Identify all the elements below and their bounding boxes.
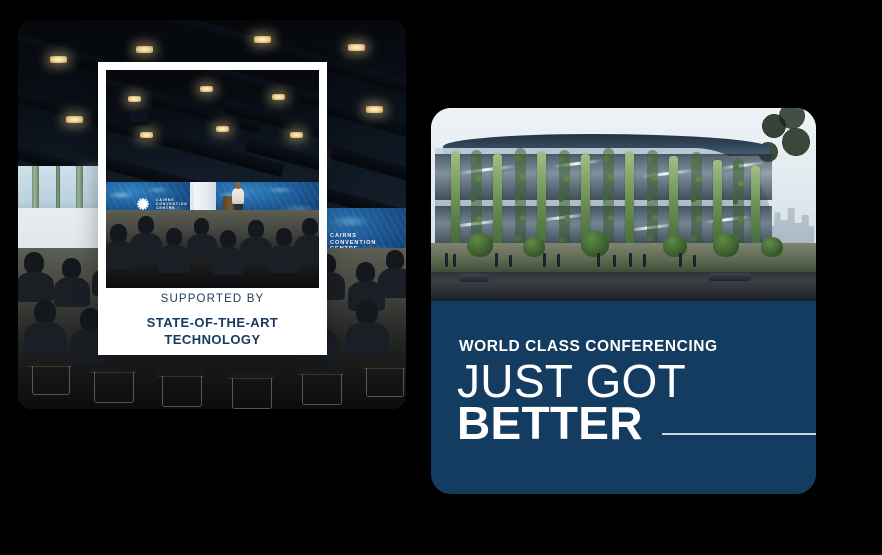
ceiling-light [348,44,365,51]
screen-wordmark-line-2: CONVENTION [330,240,376,246]
convention-centre-render [431,108,816,301]
pedestrian [629,253,632,267]
pedestrian [453,254,456,267]
chair [366,368,404,397]
audience [106,210,319,288]
audience-body [24,322,66,356]
street-tree [581,231,609,257]
eyebrow-text: WORLD CLASS CONFERENCING [459,339,718,355]
street-tree [713,233,739,257]
cairns-convention-centre-logo [136,197,150,211]
screen-wordmark-line-1: CAIRNS [330,233,357,239]
plaza [431,243,816,273]
audience-head [356,300,378,324]
pedestrian [693,255,696,267]
caption-line-1: STATE-OF-THE-ART [106,314,319,331]
caption-line-2: TECHNOLOGY [106,331,319,348]
speaker-figure [232,188,244,204]
audience-body [346,322,389,356]
pedestrian [597,253,600,267]
audience-body [18,272,54,302]
headline-rule [662,433,816,435]
pedestrian [679,253,682,267]
pedestrian [445,253,448,267]
street-tree [467,233,493,257]
street-tree [663,235,687,257]
audience-body [378,268,406,298]
ceiling-light [136,46,153,53]
session-photo: CAIRNS CONVENTION CENTRE [106,70,319,288]
road [431,272,816,301]
chair [94,372,134,403]
pedestrian [557,254,560,267]
speaker-figure [235,182,241,189]
audience-head [62,258,81,279]
chair [162,376,202,407]
pedestrian [643,254,646,267]
chair [302,374,342,405]
headline-line-2: BETTER [457,399,643,448]
pedestrian [543,253,546,267]
chair [232,378,272,409]
pedestrian [509,255,512,267]
supported-by-caption: SUPPORTED BY STATE-OF-THE-ART TECHNOLOGY [106,294,319,348]
headline-block: WORLD CLASS CONFERENCING JUST GOT BETTER [431,301,816,494]
world-class-conferencing-card[interactable]: WORLD CLASS CONFERENCING JUST GOT BETTER [431,108,816,494]
ceiling-light [50,56,67,63]
caption-eyebrow: SUPPORTED BY [106,294,319,306]
car [709,273,751,281]
ceiling-light [254,36,271,43]
audience-head [356,262,375,283]
car [459,274,489,282]
audience-body [54,277,90,307]
pedestrian [613,255,616,267]
supported-by-card[interactable]: CAIRNS CONVENTION CENTRE [98,62,327,355]
audience-head [24,252,44,274]
ceiling-light [366,106,383,113]
ceiling-light [66,116,83,123]
pedestrian [495,253,498,267]
audience-head [386,250,404,270]
street-tree [523,237,545,257]
street-tree [761,237,783,257]
chair [32,366,70,395]
audience-head [34,300,56,324]
